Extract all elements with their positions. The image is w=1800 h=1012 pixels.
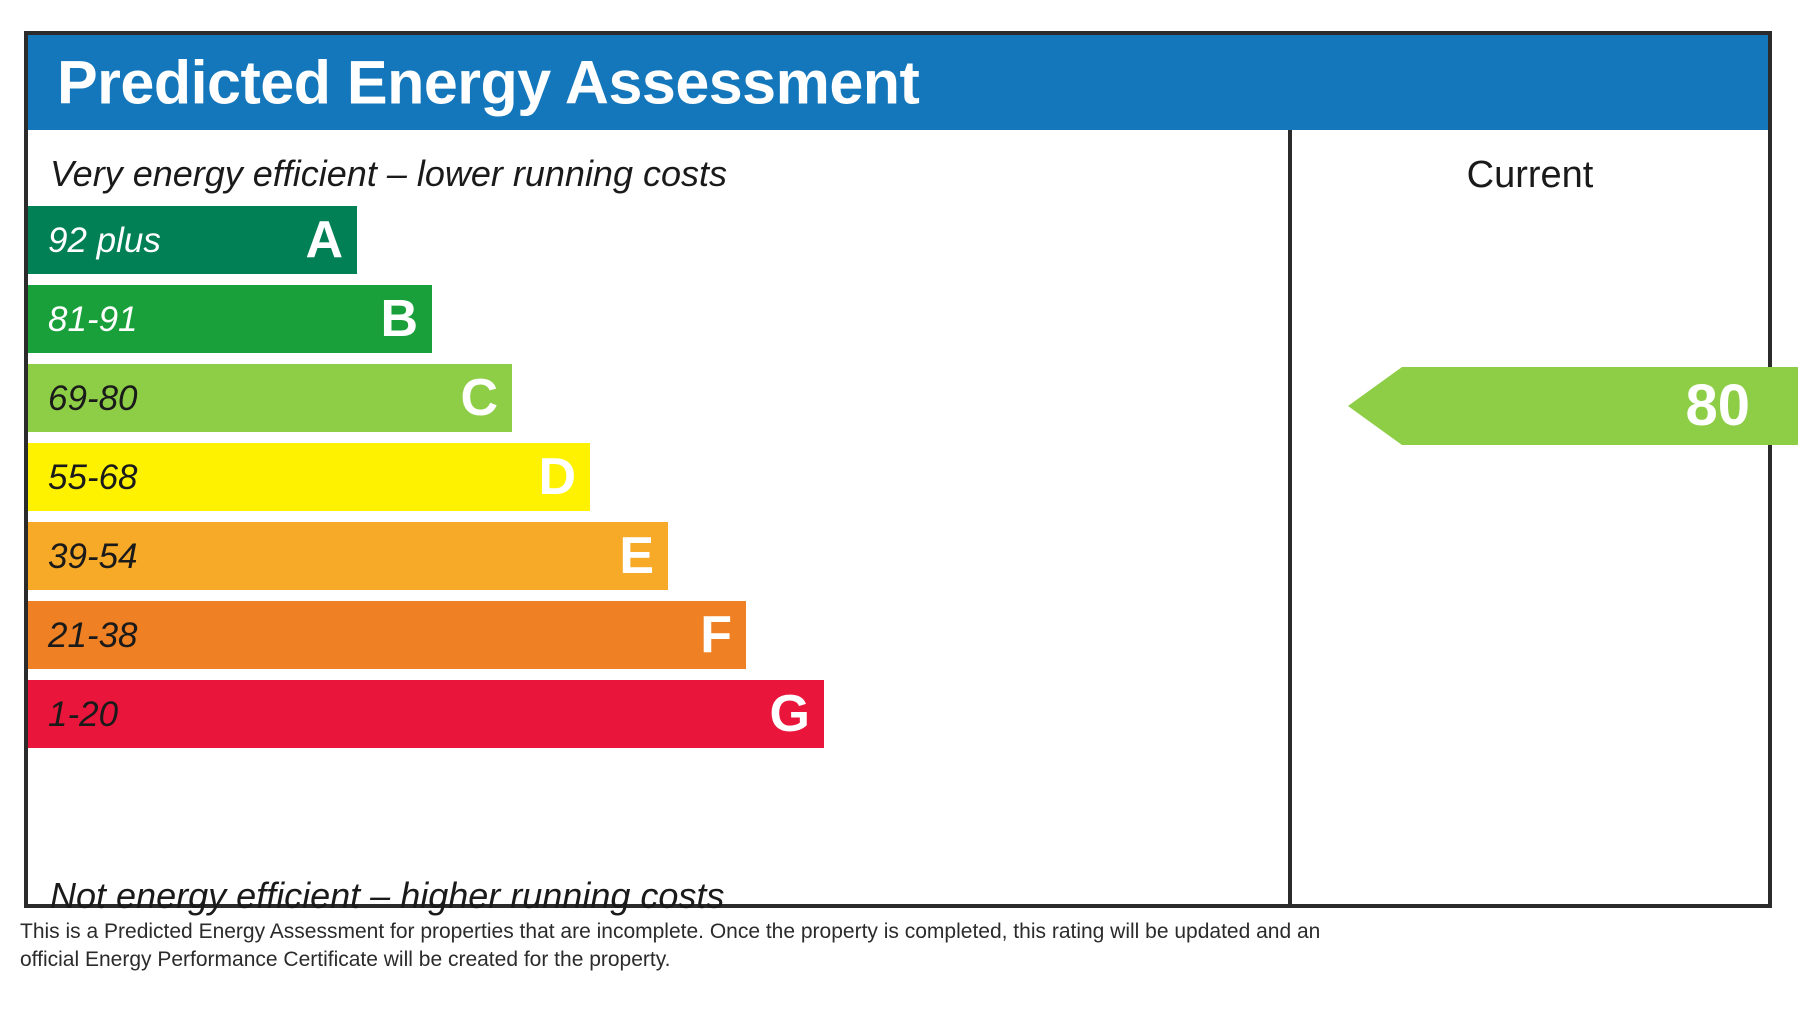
band-range-label: 92 plus xyxy=(48,223,161,258)
current-rating-arrow: 80 xyxy=(1348,367,1798,445)
current-rating-panel: Current 80 xyxy=(1292,130,1768,904)
page-title: Predicted Energy Assessment xyxy=(57,52,919,113)
current-column-header: Current xyxy=(1292,156,1768,194)
title-bar: Predicted Energy Assessment xyxy=(28,35,1768,130)
certificate-body: Very energy efficient – lower running co… xyxy=(28,130,1768,904)
band-letter-label: G xyxy=(770,688,810,740)
band-letter-label: A xyxy=(305,214,343,266)
band-letter-label: D xyxy=(538,451,576,503)
band-letter-label: C xyxy=(460,372,498,424)
band-row-b: 81-91B xyxy=(28,285,432,353)
band-range-label: 55-68 xyxy=(48,460,138,495)
footer-note: This is a Predicted Energy Assessment fo… xyxy=(20,918,1550,975)
band-range-label: 1-20 xyxy=(48,697,118,732)
band-row-g: 1-20G xyxy=(28,680,824,748)
footer-line-1: This is a Predicted Energy Assessment fo… xyxy=(20,918,1550,946)
band-row-c: 69-80C xyxy=(28,364,512,432)
band-letter-label: F xyxy=(700,609,732,661)
energy-band-chart: Very energy efficient – lower running co… xyxy=(28,130,1288,904)
caption-not-efficient: Not energy efficient – higher running co… xyxy=(50,878,724,914)
band-letter-label: E xyxy=(619,530,654,582)
footer-line-2: official Energy Performance Certificate … xyxy=(20,946,1550,974)
certificate-frame: Predicted Energy Assessment Very energy … xyxy=(24,31,1772,908)
band-row-f: 21-38F xyxy=(28,601,746,669)
band-letter-label: B xyxy=(380,293,418,345)
band-row-d: 55-68D xyxy=(28,443,590,511)
band-range-label: 21-38 xyxy=(48,618,138,653)
current-rating-value: 80 xyxy=(1685,377,1750,435)
band-range-label: 81-91 xyxy=(48,302,138,337)
band-row-e: 39-54E xyxy=(28,522,668,590)
band-row-a: 92 plusA xyxy=(28,206,357,274)
epc-certificate: Predicted Energy Assessment Very energy … xyxy=(0,0,1800,1012)
band-range-label: 39-54 xyxy=(48,539,138,574)
caption-very-efficient: Very energy efficient – lower running co… xyxy=(50,156,727,192)
band-range-label: 69-80 xyxy=(48,381,138,416)
